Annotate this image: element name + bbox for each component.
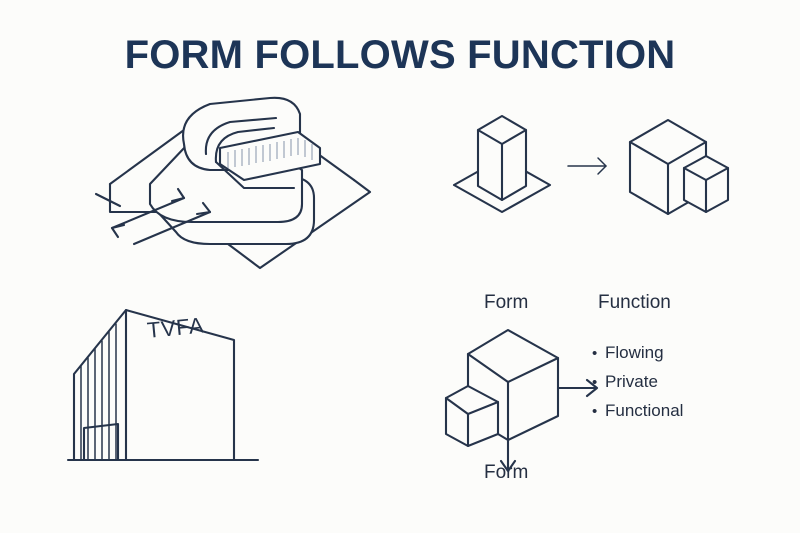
building-signage-label: TVFA: [146, 313, 205, 344]
bullet-marker-icon: •: [592, 404, 605, 419]
bullet-marker-icon: •: [592, 346, 605, 361]
infographic-poster: FORM FOLLOWS FUNCTION: [0, 0, 800, 533]
illustration-concept-massing: [88, 92, 398, 282]
list-item-label: Private: [605, 373, 658, 390]
illustration-volume-transform: [440, 100, 730, 235]
bullet-marker-icon: •: [592, 375, 605, 390]
tower-on-plot: [454, 116, 550, 212]
arrow-to-form: [501, 440, 515, 471]
site-entry-mark: [96, 194, 120, 206]
list-item-label: Flowing: [605, 344, 664, 361]
list-item-label: Functional: [605, 402, 683, 419]
list-item: • Private: [592, 373, 683, 390]
massing-small-cube: [684, 156, 728, 212]
list-item: • Functional: [592, 402, 683, 419]
transform-arrow-icon: [568, 158, 606, 174]
list-item: • Flowing: [592, 344, 683, 361]
function-bullet-list: • Flowing • Private • Functional: [592, 344, 683, 431]
illustration-context-scene: TVFA: [62, 296, 392, 476]
page-title: FORM FOLLOWS FUNCTION: [0, 33, 800, 77]
illustration-form-function: Form Function Form: [440, 292, 740, 512]
